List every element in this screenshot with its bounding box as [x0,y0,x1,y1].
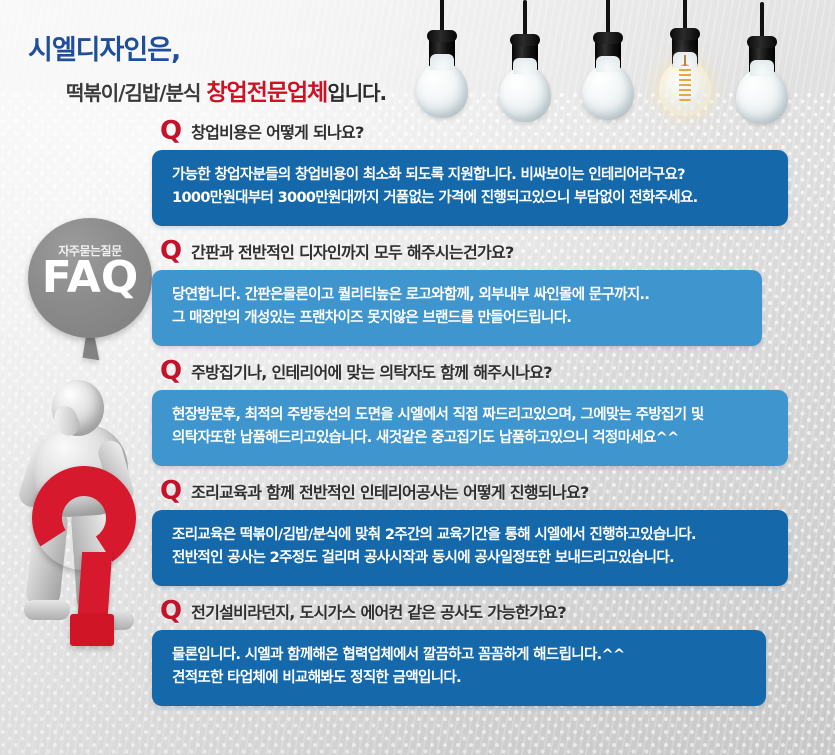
faq-answer-box: 당연합니다. 간판은물론이고 퀄리티높은 로고와함께, 외부내부 싸인몰에 문구… [152,270,762,346]
title-line-1: 시엘디자인은, [28,28,458,67]
faq-answer-line: 전반적인 공사는 2주정도 걸리며 공사시작과 동시에 공사일정또한 보내드리고… [172,547,768,570]
bulb-filament [679,64,691,104]
thinking-person-illustration [8,378,158,658]
faq-badge: 자주묻는질문 FAQ [28,218,152,338]
faq-answer-line: 조리교육은 떡볶이/김밥/분식에 맞춰 2주간의 교육기간을 통해 시엘에서 진… [172,524,768,547]
faq-question-text: 간판과 전반적인 디자인까지 모두 해주시는건가요? [191,239,513,263]
faq-question-row[interactable]: Q창업비용은 어떻게 되나요? [152,112,792,150]
hanging-bulbs-group [432,0,835,124]
question-mark-dot [70,614,114,646]
faq-answer-box: 현장방문후, 최적의 주방동선의 도면을 시엘에서 직접 짜드리고있으며, 그에… [152,390,788,466]
faq-question-text: 조리교육과 함께 전반적인 인테리어공사는 어떻게 진행되나요? [191,479,588,503]
faq-question-row[interactable]: Q간판과 전반적인 디자인까지 모두 해주시는건가요? [152,232,792,270]
faq-list: Q창업비용은 어떻게 되나요?가능한 창업자분들의 창업비용이 최소화 되도록 … [152,112,792,712]
title-line-2-highlight: 창업전문업체 [206,80,327,106]
question-mark-stem [78,552,112,614]
title-line-2-suffix: 입니다. [327,81,386,105]
faq-answer-line: 견적또한 타업체에 비교해봐도 정직한 금액입니다. [172,667,746,690]
faq-question-row[interactable]: Q주방집기나, 인테리어에 맞는 의탁자도 함께 해주시나요? [152,352,792,390]
title-line-2-prefix: 떡볶이/김밥/분식 [66,81,206,105]
title-line-2: 떡볶이/김밥/분식 창업전문업체입니다. [66,73,458,107]
question-badge-icon: Q [160,478,182,504]
question-badge-icon: Q [160,358,182,384]
question-badge-icon: Q [160,118,182,144]
faq-answer-box: 물론입니다. 시엘과 함께해온 협력업체에서 깔끔하고 꼼꼼하게 해드립니다.^… [152,630,766,706]
faq-question-text: 주방집기나, 인테리어에 맞는 의탁자도 함께 해주시나요? [191,359,552,383]
faq-answer-line: 의탁자또한 납품해드리고있습니다. 새것같은 중고집기도 납품하고있으니 걱정마… [172,427,768,450]
faq-answer-line: 물론입니다. 시엘과 함께해온 협력업체에서 깔끔하고 꼼꼼하게 해드립니다.^… [172,644,746,667]
faq-answer-line: 그 매장만의 개성있는 프랜차이즈 못지않은 브랜드를 만들어드립니다. [172,307,742,330]
question-mark-icon [26,466,150,641]
faq-answer-box: 조리교육은 떡볶이/김밥/분식에 맞춰 2주간의 교육기간을 통해 시엘에서 진… [152,510,788,586]
faq-question-text: 전기설비라던지, 도시가스 에어컨 같은 공사도 가능한가요? [191,599,566,623]
faq-answer-box: 가능한 창업자분들의 창업비용이 최소화 되도록 지원합니다. 비싸보이는 인테… [152,150,788,226]
faq-question-row[interactable]: Q조리교육과 함께 전반적인 인테리어공사는 어떻게 진행되나요? [152,472,792,510]
faq-answer-line: 가능한 창업자분들의 창업비용이 최소화 되도록 지원합니다. 비싸보이는 인테… [172,164,768,187]
faq-answer-line: 1000만원대부터 3000만원대까지 거품없는 가격에 진행되고있으니 부담없… [172,187,768,210]
faq-answer-line: 당연합니다. 간판은물론이고 퀄리티높은 로고와함께, 외부내부 싸인몰에 문구… [172,284,742,307]
faq-question-row[interactable]: Q전기설비라던지, 도시가스 에어컨 같은 공사도 가능한가요? [152,592,792,630]
question-badge-icon: Q [160,238,182,264]
faq-question-text: 창업비용은 어떻게 되나요? [191,119,364,143]
question-badge-icon: Q [160,598,182,624]
bulb-glass [659,60,711,116]
faq-answer-line: 현장방문후, 최적의 주방동선의 도면을 시엘에서 직접 짜드리고있으며, 그에… [172,404,768,427]
page-title: 시엘디자인은, 떡볶이/김밥/분식 창업전문업체입니다. [28,28,458,107]
faq-page: 시엘디자인은, 떡볶이/김밥/분식 창업전문업체입니다. 자주묻는질문 FAQ … [0,0,835,755]
faq-badge-title: FAQ [28,256,152,300]
